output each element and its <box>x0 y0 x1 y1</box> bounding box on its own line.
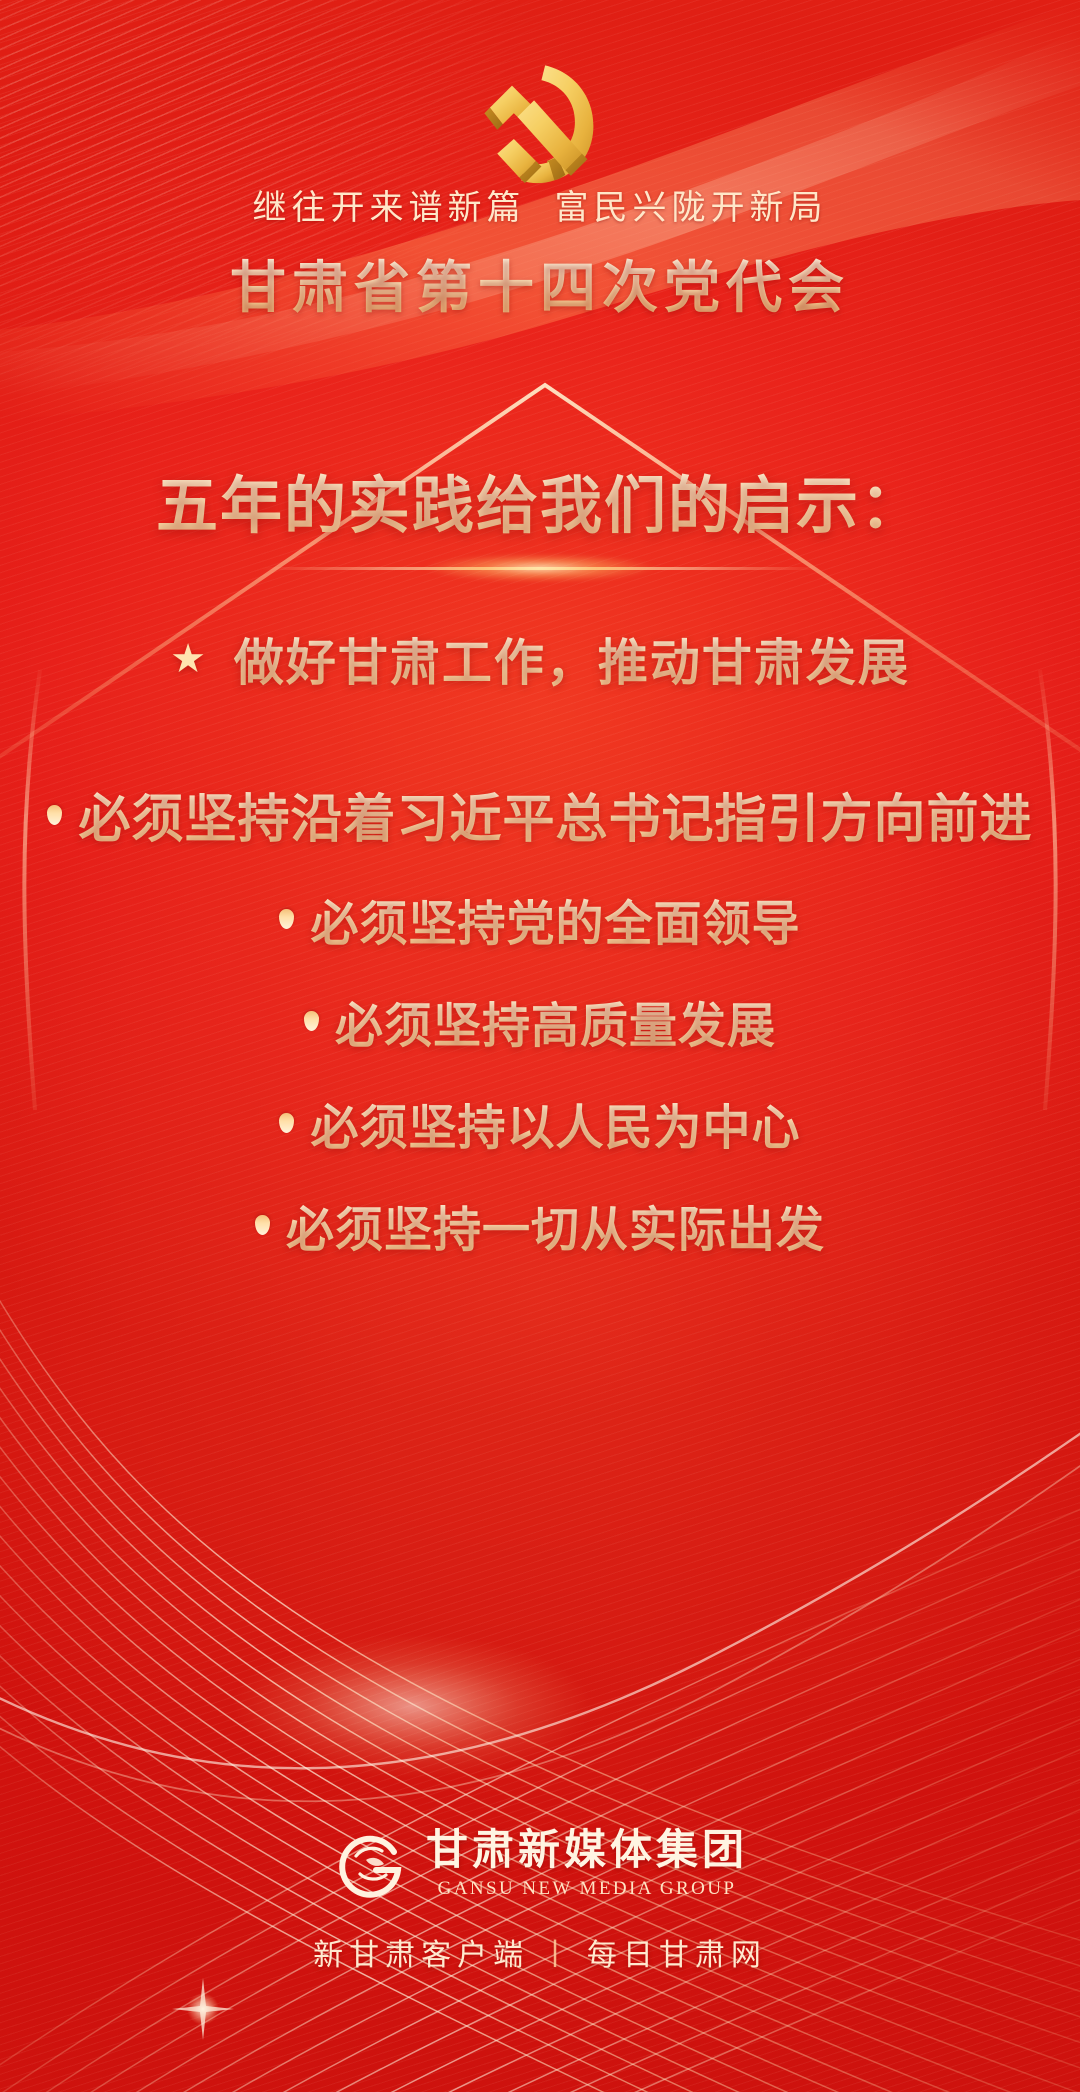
star-highlight-line: ★ 做好甘肃工作，推动甘肃发展 <box>0 623 1080 695</box>
footer-link-site[interactable]: 每日甘肃网 <box>587 1930 767 1974</box>
main-content: 五年的实践给我们的启示： ★ 做好甘肃工作，推动甘肃发展 必须坚持沿着习近平总书… <box>0 455 1080 1292</box>
droplet-bullet-icon <box>279 909 294 929</box>
list-item: 必须坚持高质量发展 <box>0 986 1080 1056</box>
footer-links: 新甘肃客户端 | 每日甘肃网 <box>0 1930 1080 1974</box>
star-icon: ★ <box>170 639 206 679</box>
headline-divider <box>0 551 1080 593</box>
brand-name-en: GANSU NEW MEDIA GROUP <box>426 1878 748 1900</box>
poster-root: 继往开来谱新篇 富民兴陇开新局 甘肃省第十四次党代会 五年的实践给我们的启示： <box>0 0 1080 2092</box>
list-item-label: 必须坚持沿着习近平总书记指引方向前进 <box>78 777 1032 852</box>
droplet-bullet-icon <box>47 805 62 825</box>
list-item: 必须坚持以人民为中心 <box>0 1088 1080 1158</box>
list-item: 必须坚持沿着习近平总书记指引方向前进 <box>0 777 1080 852</box>
brand-row: 甘肃新媒体集团 GANSU NEW MEDIA GROUP <box>0 1826 1080 1902</box>
bullet-list: 必须坚持沿着习近平总书记指引方向前进 必须坚持党的全面领导 必须坚持高质量发展 … <box>0 777 1080 1260</box>
sparkle-icon <box>168 1974 238 2044</box>
headline-text: 五年的实践给我们的启示： <box>0 455 1080 545</box>
list-item-label: 必须坚持高质量发展 <box>335 986 776 1056</box>
gansu-new-media-logo-icon <box>332 1826 408 1902</box>
list-item: 必须坚持党的全面领导 <box>0 884 1080 954</box>
star-line-text: 做好甘肃工作，推动甘肃发展 <box>234 623 910 695</box>
footer-separator: | <box>551 1935 565 1969</box>
poster-subtitle: 继往开来谱新篇 富民兴陇开新局 <box>0 180 1080 229</box>
list-item-label: 必须坚持党的全面领导 <box>310 884 800 954</box>
footer-link-app[interactable]: 新甘肃客户端 <box>313 1930 529 1974</box>
droplet-bullet-icon <box>279 1113 294 1133</box>
footer-block: 甘肃新媒体集团 GANSU NEW MEDIA GROUP 新甘肃客户端 | 每… <box>0 1826 1080 1974</box>
brand-name-cn: 甘肃新媒体集团 <box>426 1828 748 1872</box>
list-item-label: 必须坚持以人民为中心 <box>310 1088 800 1158</box>
brand-texts: 甘肃新媒体集团 GANSU NEW MEDIA GROUP <box>426 1828 748 1899</box>
droplet-bullet-icon <box>304 1011 319 1031</box>
divider-glow <box>425 554 655 582</box>
